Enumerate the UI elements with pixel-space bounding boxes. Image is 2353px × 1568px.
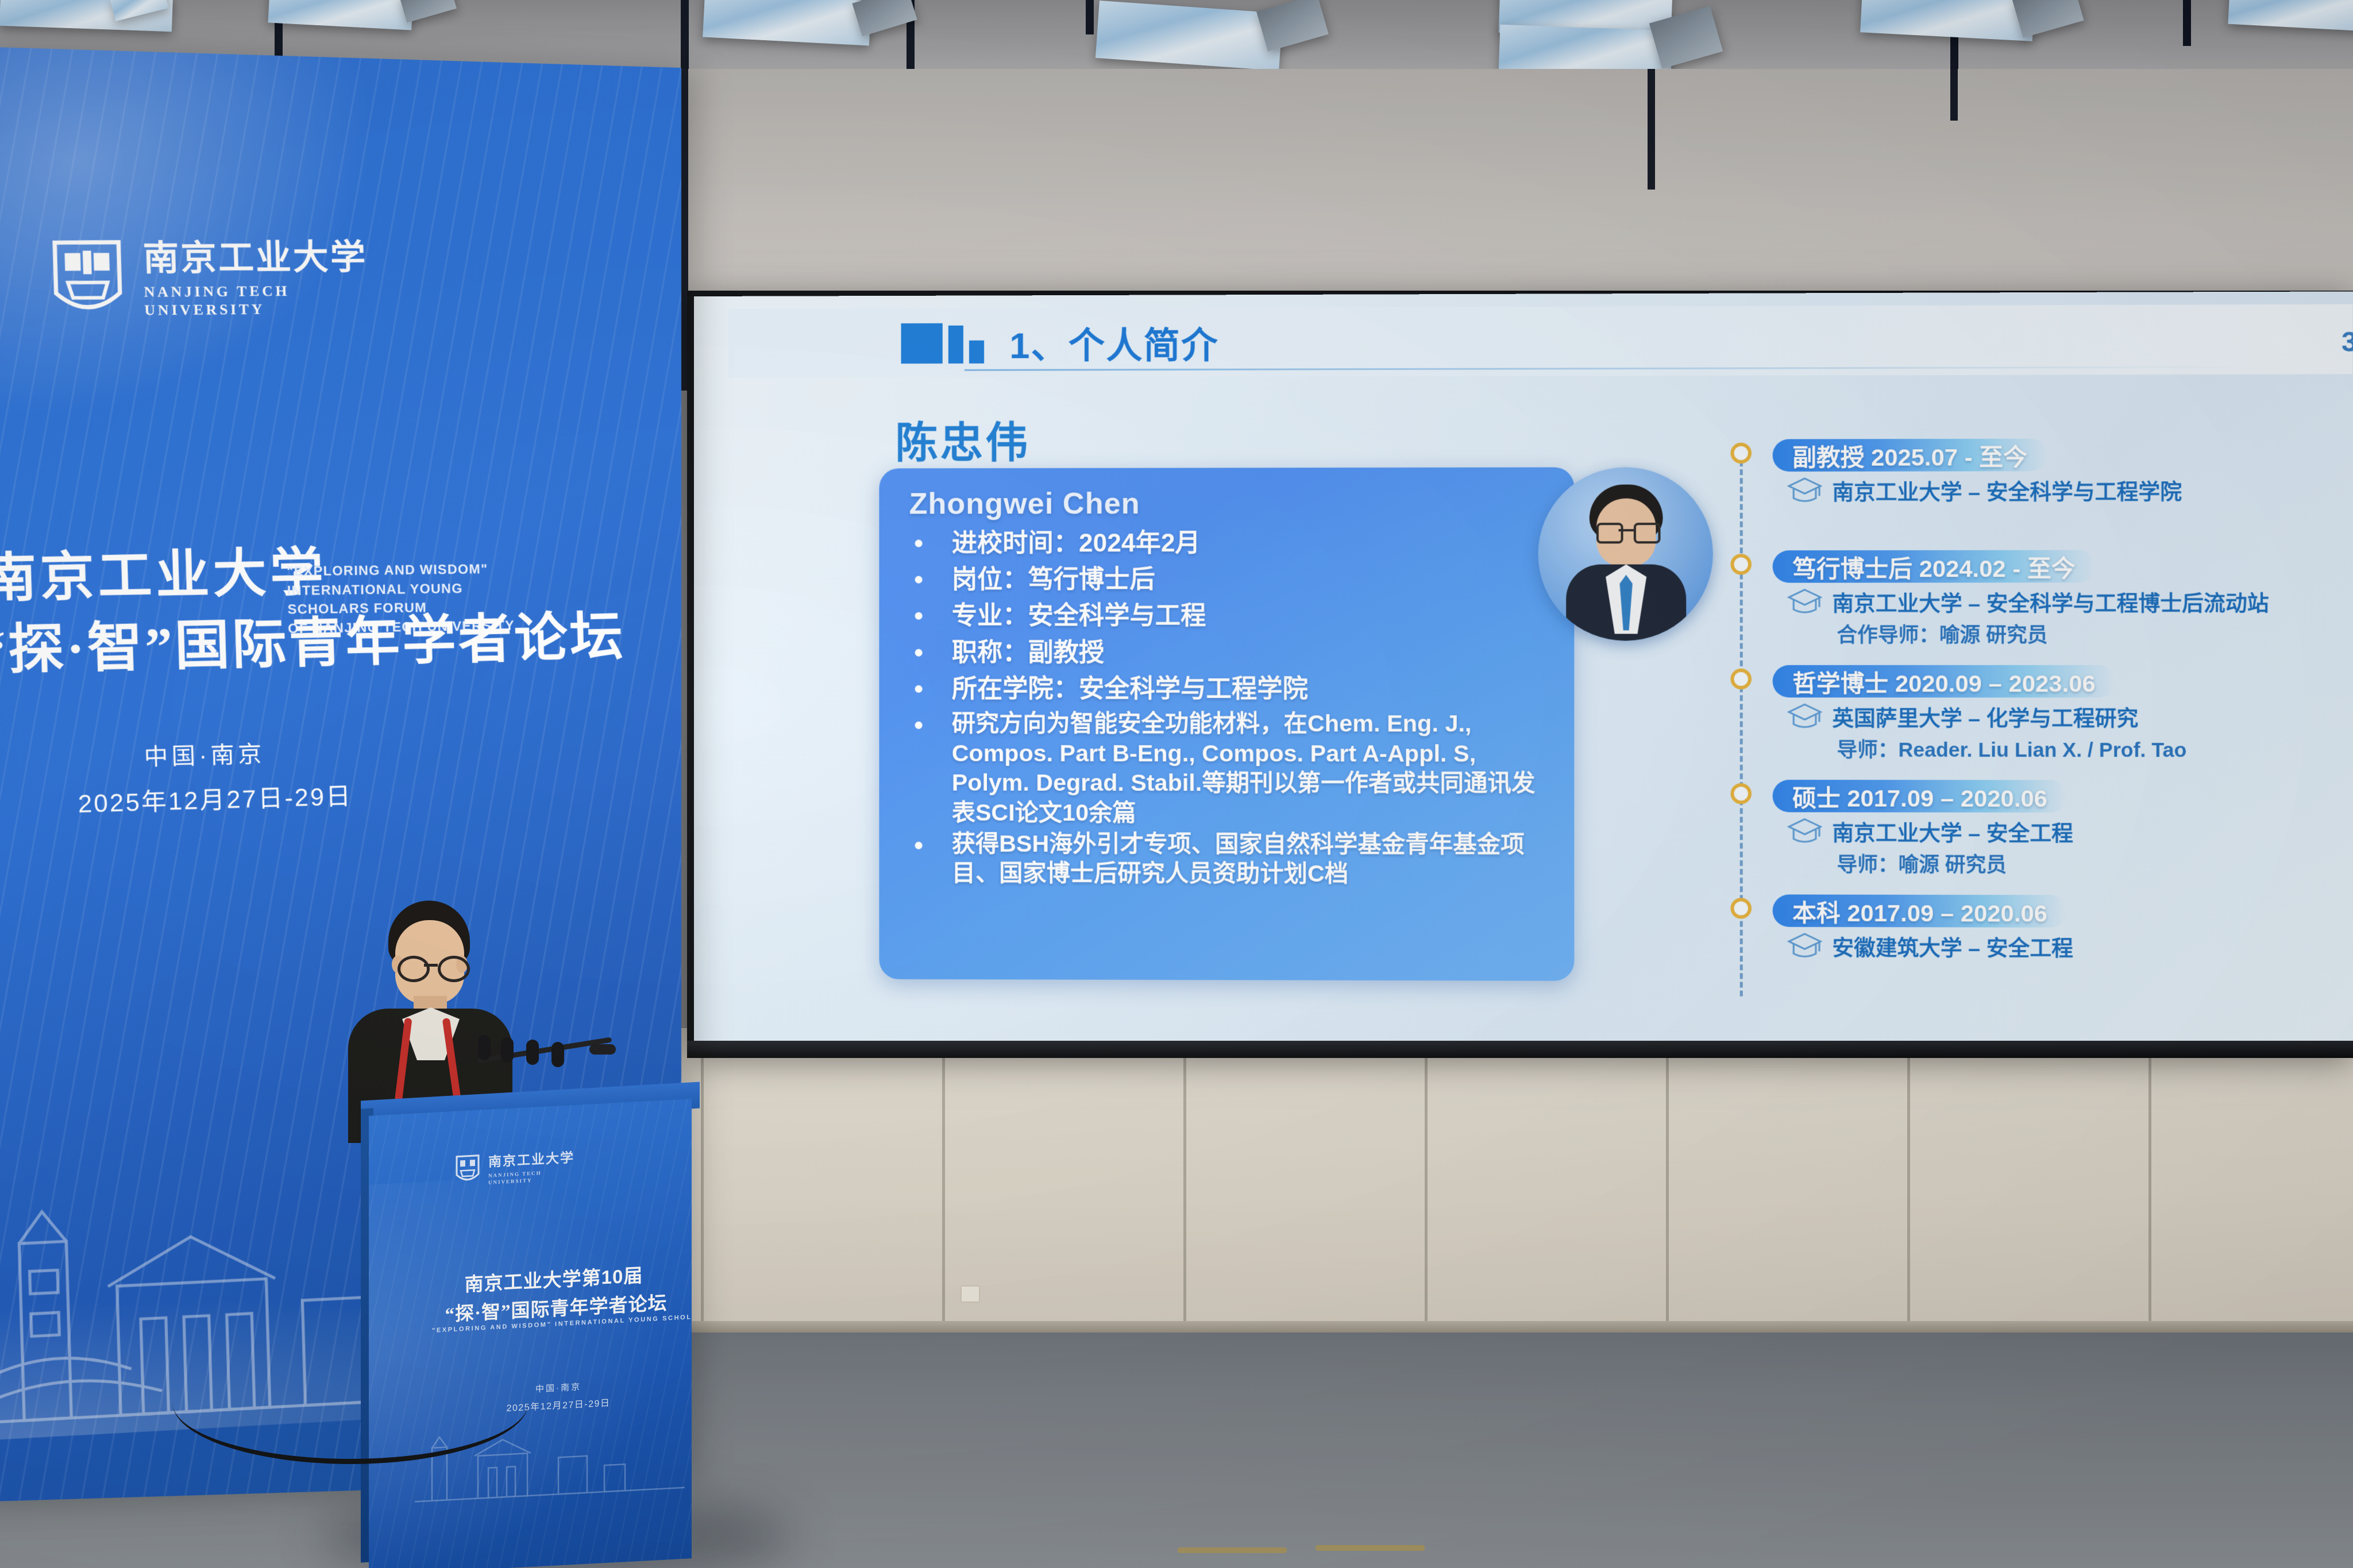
timeline-title: 笃行博士后 2024.02 - 至今 [1773,550,2096,583]
conference-hall-photo: 1、个人简介 3 陈忠伟 Zhongwei Chen 进校时间：2024年2月 … [0,0,2353,1568]
timeline-institution-row: 南京工业大学 – 安全科学与工程学院 [1787,474,2182,507]
wall-outlet[interactable] [961,1285,980,1303]
university-logo-lockup: 南京工业大学 NANJING TECH UNIVERSITY [51,237,369,323]
backdrop-title-line2: “探·智”国际青年学者论坛 [0,593,652,685]
portrait-glasses-bridge [1618,529,1633,531]
wall-panel-divider [1907,1034,1910,1321]
speaker-portrait-photo [1538,467,1713,641]
graduation-cap-icon [1787,476,1823,505]
timeline-item: 副教授 2025.07 - 至今 南京工业大学 – 安全科学与工程学院 [1730,438,2353,439]
podium-logo-lockup: 南京工业大学 NANJING TECH UNIVERSITY [455,1146,574,1188]
profile-bullet-list: 进校时间：2024年2月 岗位：笃行博士后 专业：安全科学与工程 职称：副教授 … [899,526,1554,889]
wall-panel-divider [2148,1034,2151,1321]
projection-screen: 1、个人简介 3 陈忠伟 Zhongwei Chen 进校时间：2024年2月 … [694,291,2353,1046]
list-item: 进校时间：2024年2月 [899,526,1554,560]
timeline-dot-icon [1730,669,1752,689]
slide-page-number: 3 [2342,326,2353,358]
list-item: 岗位：笃行博士后 [899,563,1554,596]
timeline-title: 哲学博士 2020.09 – 2023.06 [1773,665,2116,698]
list-item: 职称：副教授 [899,636,1554,669]
podium-front-panel: 南京工业大学 NANJING TECH UNIVERSITY 南京工业大学第10… [369,1099,692,1568]
timeline-advisor: 导师：喻源 研究员 [1837,848,2007,878]
profile-info-card: Zhongwei Chen 进校时间：2024年2月 岗位：笃行博士后 专业：安… [879,468,1574,981]
screen-bottom-frame [687,1041,2353,1058]
microphone-head [526,1040,539,1065]
microphone-head [478,1035,491,1060]
speaker-glasses-right [438,956,470,982]
university-name-en-line1: NANJING TECH [144,281,369,301]
microphone-head [551,1042,564,1067]
microphone-assembly [477,1034,615,1068]
podium-logo-text: 南京工业大学 NANJING TECH UNIVERSITY [488,1146,574,1186]
university-logo-text: 南京工业大学 NANJING TECH UNIVERSITY [142,240,369,319]
timeline-title: 副教授 2025.07 - 至今 [1773,439,2047,472]
timeline-institution-row: 南京工业大学 – 安全工程 [1787,816,2073,847]
list-item: 专业：安全科学与工程 [899,600,1554,633]
university-name-en-line2: UNIVERSITY [144,300,369,320]
graduation-cap-icon [1787,588,1823,616]
timeline-institution: 南京工业大学 – 安全科学与工程学院 [1832,474,2182,506]
timeline-institution: 南京工业大学 – 安全工程 [1832,816,2073,847]
timeline-dot-icon [1730,554,1752,574]
timeline-dot-icon [1730,443,1752,464]
university-name-cn: 南京工业大学 [142,240,368,276]
floor-marking [1316,1545,1425,1551]
bar-chart-icon [901,322,985,364]
portrait-glasses-right [1634,523,1661,543]
wall-panel-divider [1183,1034,1186,1321]
timeline-institution: 英国萨里大学 – 化学与工程研究 [1832,701,2138,732]
backdrop-subtitle-en-line1: "EXPLORING AND WISDOM" [287,559,539,581]
ceiling-strut [2183,0,2191,46]
portrait-glasses-left [1596,523,1623,543]
speaker-glasses-bridge [424,964,438,967]
graduation-cap-icon [1787,702,1823,731]
timeline-dot-icon [1730,898,1752,918]
graduation-cap-icon [1787,932,1823,961]
timeline-item: 硕士 2017.09 – 2020.06 南京工业大学 – 安全工程 导师：喻源… [1730,780,2353,781]
wall-panel-divider [1425,1034,1428,1321]
person-name-en: Zhongwei Chen [909,486,1554,522]
microphone-base [589,1044,616,1055]
floor-marking [1178,1547,1287,1553]
ceiling-strut [681,0,689,69]
microphone-head [501,1037,514,1063]
timeline-title: 硕士 2017.09 – 2020.06 [1773,780,2067,813]
timeline-institution-row: 南京工业大学 – 安全科学与工程博士后流动站 [1787,586,2269,617]
speaker-glasses-left [398,956,430,982]
timeline-item: 本科 2017.09 – 2020.06 安徽建筑大学 – 安全工程 [1730,894,2353,895]
wall-panel-divider [942,1034,945,1321]
list-item: 研究方向为智能安全功能材料，在Chem. Eng. J., Compos. Pa… [899,709,1554,828]
person-name-cn: 陈忠伟 [895,408,1030,470]
timeline-advisor: 合作导师：喻源 研究员 [1837,619,2048,648]
timeline-institution: 安徽建筑大学 – 安全工程 [1832,930,2073,962]
university-crest-icon [51,239,125,323]
backdrop-date: 2025年12月27日-29日 [78,777,353,820]
slide-header-title: 1、个人简介 [1009,316,1218,369]
career-timeline: 副教授 2025.07 - 至今 南京工业大学 – 安全科学与工程学院 笃行博士… [1730,438,2353,1026]
timeline-institution: 南京工业大学 – 安全科学与工程博士后流动站 [1832,586,2269,617]
university-name-en: NANJING TECH UNIVERSITY [144,281,369,319]
timeline-title: 本科 2017.09 – 2020.06 [1773,894,2067,928]
timeline-dot-icon [1730,783,1752,804]
wall-panel-divider [701,1034,704,1321]
university-crest-icon [455,1153,480,1185]
graduation-cap-icon [1787,817,1823,846]
timeline-institution-row: 安徽建筑大学 – 安全工程 [1787,930,2073,963]
timeline-institution-row: 英国萨里大学 – 化学与工程研究 [1787,701,2138,732]
wall-panel-divider [1666,1034,1669,1321]
wall-mullion [1950,69,1958,121]
ceiling-strut [1086,0,1094,34]
timeline-item: 笃行博士后 2024.02 - 至今 南京工业大学 – 安全科学与工程博士后流动… [1730,550,2353,550]
podium: 南京工业大学 NANJING TECH UNIVERSITY 南京工业大学第10… [361,1091,700,1568]
wall-mullion [1648,69,1655,190]
podium-university-name-cn: 南京工业大学 [488,1146,574,1171]
list-item: 获得BSH海外引才专项、国家自然科学基金青年基金项目、国家博士后研究人员资助计划… [899,829,1554,889]
timeline-advisor: 导师：Reader. Liu Lian X. / Prof. Tao [1837,733,2187,763]
list-item: 所在学院：安全科学与工程学院 [899,673,1554,706]
backdrop-location: 中国·南京 [144,735,266,773]
